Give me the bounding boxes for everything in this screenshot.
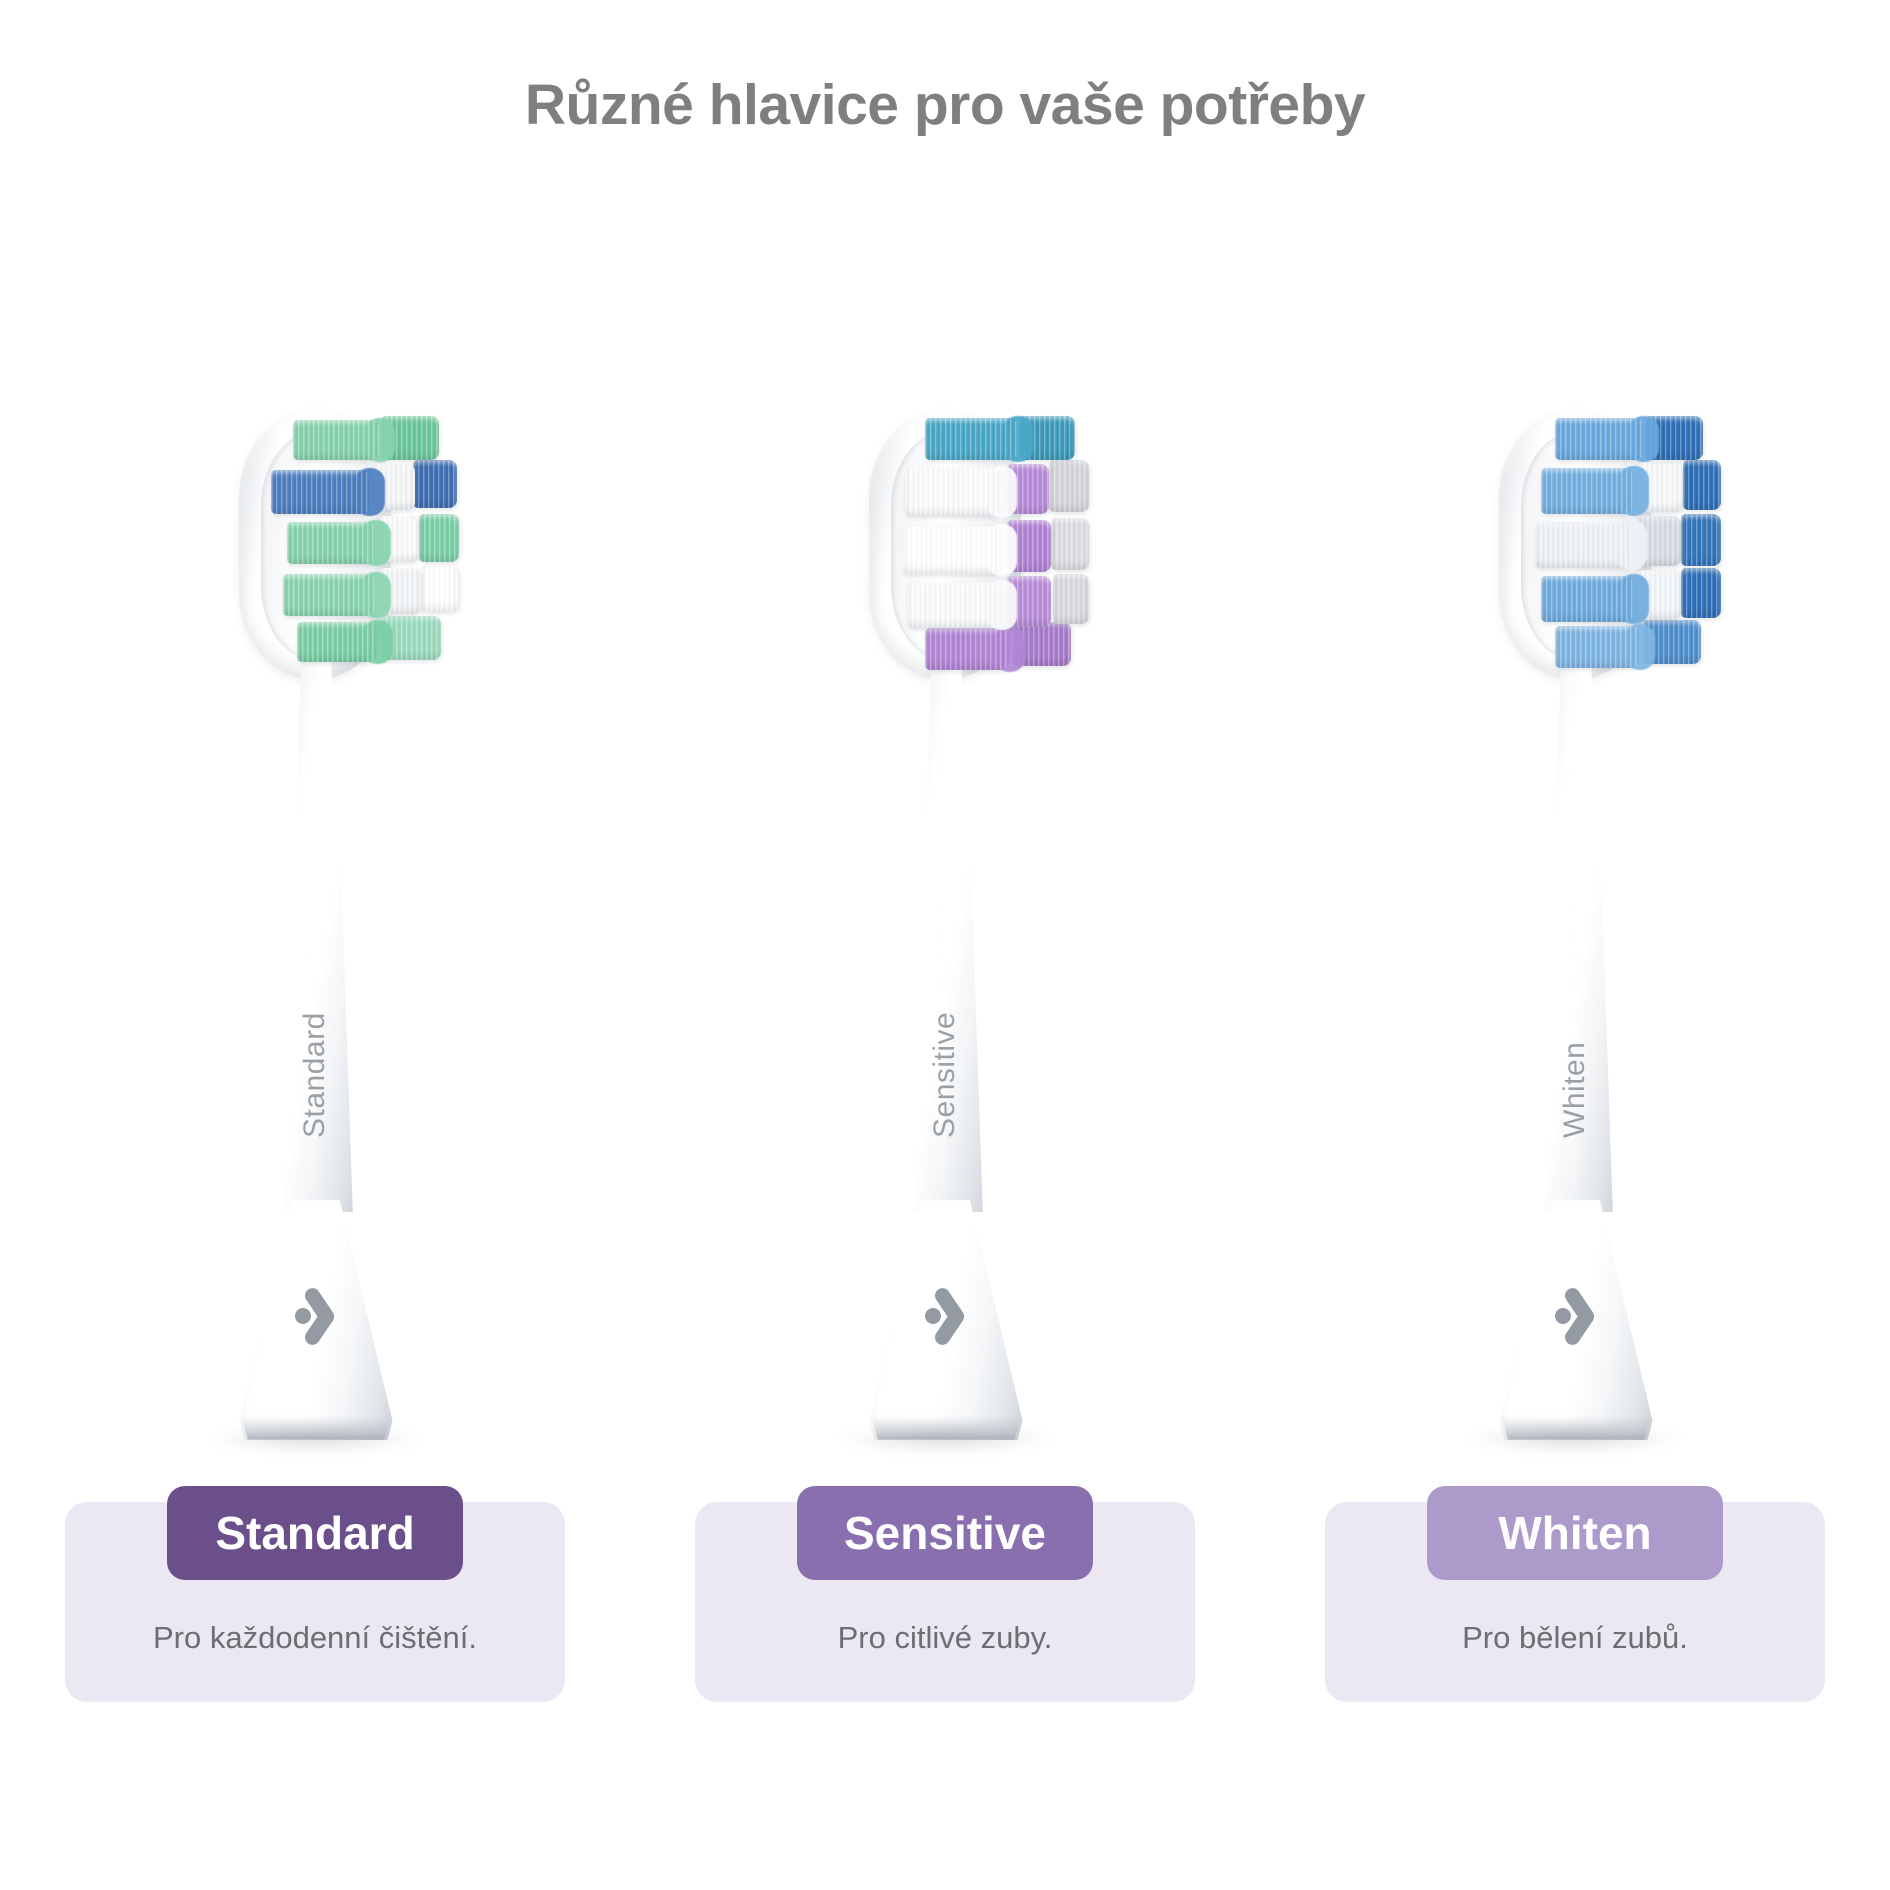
bristle-tuft — [1681, 568, 1721, 618]
variant-card-list: Standard Pro každodenní čištění. Sensiti… — [0, 1480, 1890, 1740]
brush-model-name-whiten: Whiten — [1558, 1042, 1592, 1138]
brush-model-name-standard: Standard — [298, 1012, 332, 1138]
bristle-tuft — [293, 420, 379, 460]
page-title: Různé hlavice pro vaše potřeby — [0, 72, 1890, 138]
brush-drop-shadow — [1470, 1426, 1680, 1452]
toothbrush-head-whiten[interactable]: Whiten — [1395, 400, 1755, 1460]
brush-head-gallery: Standard — [0, 400, 1890, 1460]
variant-description-sensitive: Pro citlivé zuby. — [695, 1620, 1195, 1656]
bristle-tuft — [287, 522, 375, 564]
logo-dot — [925, 1308, 941, 1324]
bristle-field — [1521, 416, 1721, 672]
bristle-tuft — [925, 418, 1017, 460]
variant-badge-whiten: Whiten — [1427, 1486, 1723, 1580]
variant-description-standard: Pro každodenní čištění. — [65, 1620, 565, 1656]
toothbrush-head-sensitive[interactable]: Sensitive — [765, 400, 1125, 1460]
bristle-tuft — [1541, 576, 1633, 622]
variant-card-whiten[interactable]: Whiten Pro bělení zubů. — [1325, 1502, 1825, 1702]
brush-drop-shadow — [840, 1426, 1050, 1452]
brush-column-whiten: Whiten — [1260, 400, 1890, 1460]
bristle-tuft — [271, 470, 369, 514]
bristle-tuft — [907, 582, 1001, 628]
variant-description-whiten: Pro bělení zubů. — [1325, 1620, 1825, 1656]
brush-drop-shadow — [210, 1426, 420, 1452]
bristle-tuft — [283, 574, 375, 616]
bristle-tuft — [1683, 460, 1721, 510]
brush-column-sensitive: Sensitive — [630, 400, 1260, 1460]
product-infographic: Různé hlavice pro vaše potřeby Standard — [0, 0, 1890, 1890]
bristle-tuft — [1535, 522, 1631, 568]
brush-body: Standard — [135, 400, 495, 1440]
card-column-whiten: Whiten Pro bělení zubů. — [1260, 1480, 1890, 1740]
bristle-field — [891, 416, 1091, 672]
brand-logo-icon — [295, 1286, 351, 1346]
bristle-tuft — [925, 628, 1009, 670]
toothbrush-head-standard[interactable]: Standard — [135, 400, 495, 1460]
bristle-tuft — [297, 622, 377, 662]
card-column-standard: Standard Pro každodenní čištění. — [0, 1480, 630, 1740]
bristle-field — [261, 416, 461, 672]
logo-dot — [295, 1308, 311, 1324]
variant-badge-sensitive: Sensitive — [797, 1486, 1093, 1580]
variant-badge-standard: Standard — [167, 1486, 463, 1580]
bristle-tuft — [1049, 460, 1089, 512]
brush-body: Sensitive — [765, 400, 1125, 1440]
brush-body: Whiten — [1395, 400, 1755, 1440]
bristle-tuft — [1053, 574, 1089, 624]
card-column-sensitive: Sensitive Pro citlivé zuby. — [630, 1480, 1260, 1740]
variant-card-sensitive[interactable]: Sensitive Pro citlivé zuby. — [695, 1502, 1195, 1702]
bristle-tuft — [1541, 468, 1633, 514]
bristle-tuft — [905, 468, 1001, 516]
brand-logo-icon — [925, 1286, 981, 1346]
variant-card-standard[interactable]: Standard Pro každodenní čištění. — [65, 1502, 565, 1702]
bristle-tuft — [1555, 418, 1643, 460]
logo-dot — [1555, 1308, 1571, 1324]
bristle-tuft — [413, 460, 457, 508]
bristle-tuft — [903, 526, 1001, 574]
brush-column-standard: Standard — [0, 400, 630, 1460]
bristle-tuft — [1555, 626, 1639, 668]
bristle-tuft — [1051, 518, 1089, 570]
brand-logo-icon — [1555, 1286, 1611, 1346]
bristle-tuft — [419, 514, 459, 562]
bristle-tuft — [421, 566, 459, 612]
brush-model-name-sensitive: Sensitive — [928, 1012, 962, 1138]
bristle-tuft — [1681, 514, 1721, 566]
